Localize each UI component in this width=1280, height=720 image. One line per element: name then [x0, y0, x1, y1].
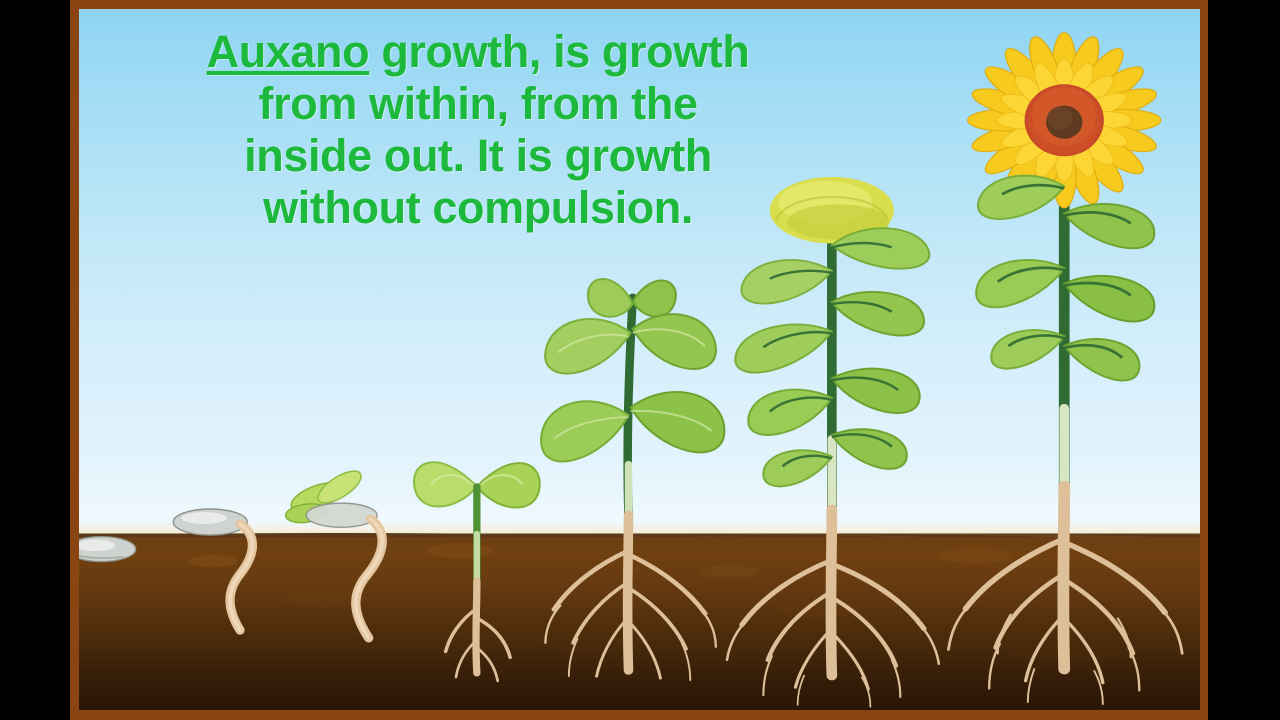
slide-frame-border: Auxano growth, is growth from within, fr… [70, 0, 1208, 720]
seedling-roots [446, 580, 511, 680]
slide-caption: Auxano growth, is growth from within, fr… [108, 26, 848, 235]
caption-line1-rest: growth, is growth [369, 26, 749, 77]
plant-roots [949, 486, 1183, 704]
growth-stage-3-seed-sprout [275, 479, 421, 710]
letterbox-left [0, 0, 70, 720]
plant-roots [545, 516, 715, 681]
growth-stage-6-budding-plant [712, 177, 947, 710]
growth-stage-2-seed-radicle [164, 500, 287, 710]
letterbox-right [1208, 0, 1280, 720]
caption-line4: without compulsion. [263, 182, 693, 233]
caption-line2: from within, from the [259, 78, 698, 129]
caption-line3: inside out. It is growth [244, 130, 712, 181]
screenshot-canvas: Auxano growth, is growth from within, fr… [0, 0, 1280, 720]
caption-keyword: Auxano [207, 26, 370, 77]
seed-coat [306, 503, 377, 527]
plant-roots [727, 510, 939, 707]
growth-stage-1-seed-dormant [79, 528, 162, 710]
slide-content: Auxano growth, is growth from within, fr… [79, 9, 1200, 710]
growth-stage-7-flowering-sunflower [942, 58, 1189, 710]
growth-stage-5-young-plant [522, 268, 735, 710]
